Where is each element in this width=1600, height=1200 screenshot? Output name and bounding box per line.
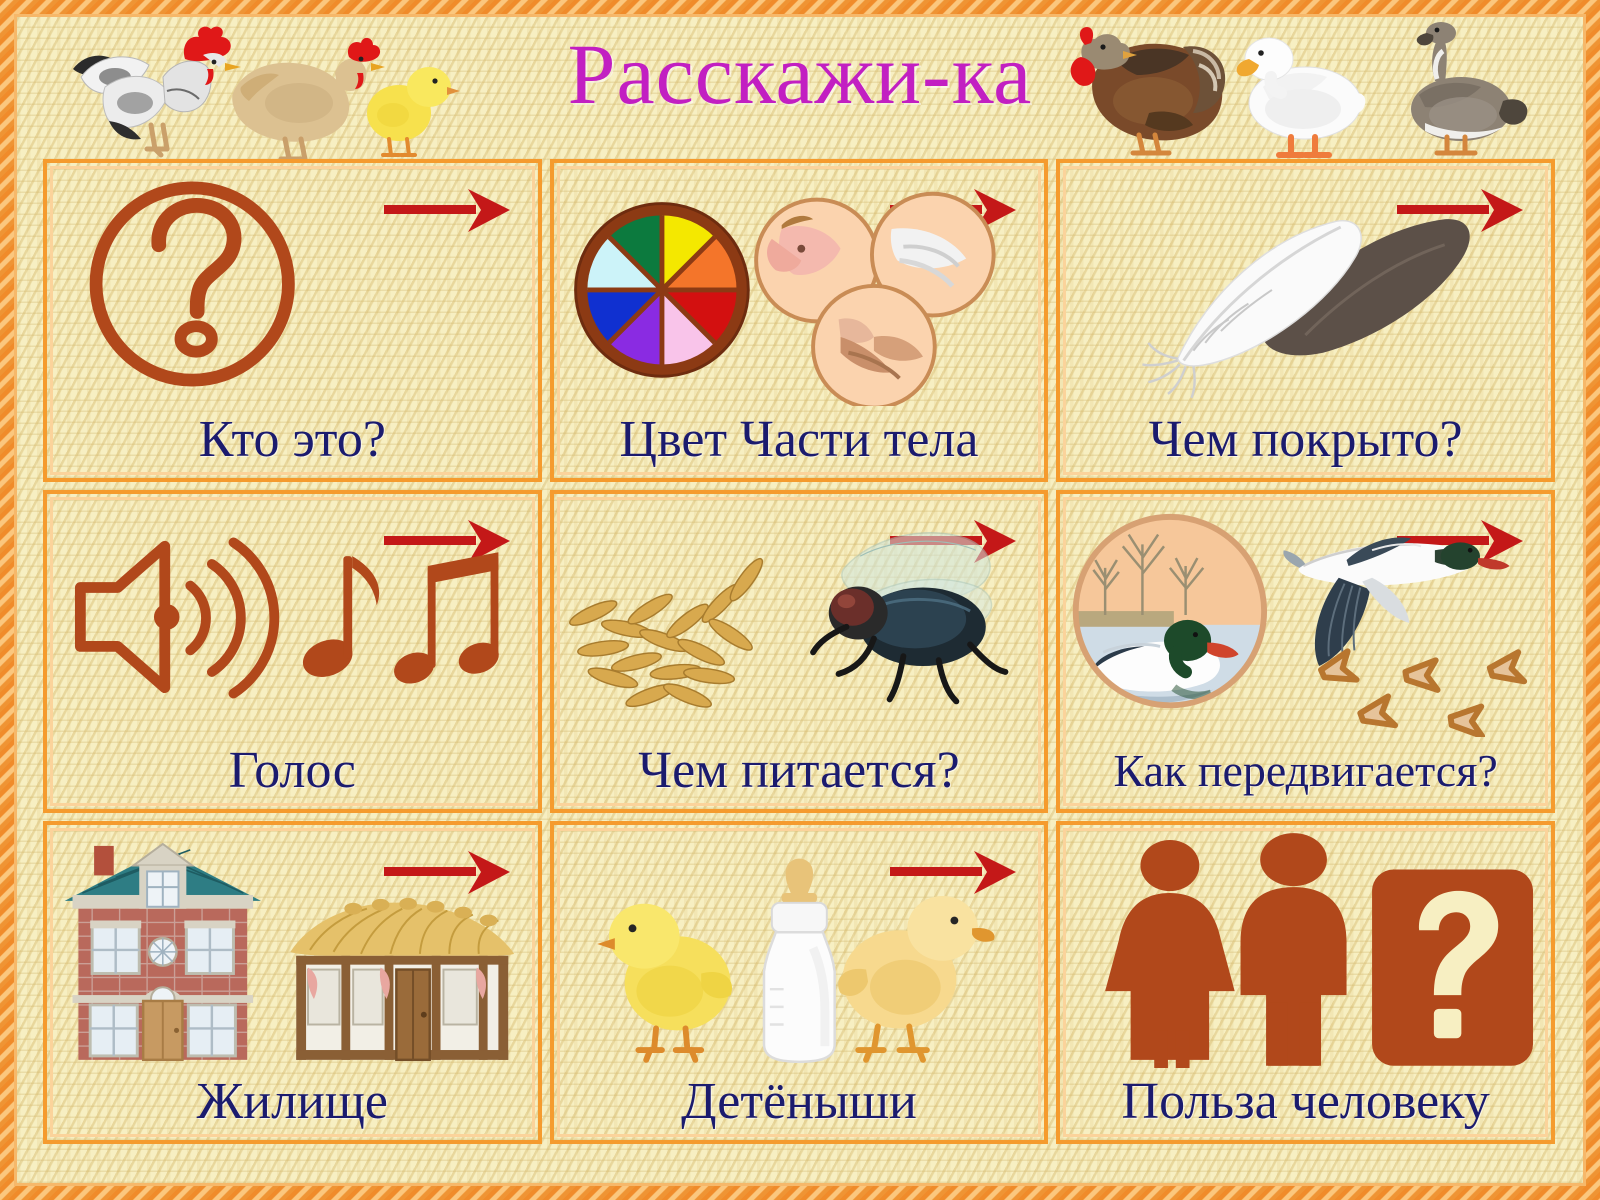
dwelling-art — [47, 825, 538, 1068]
how-it-moves-art — [1060, 494, 1551, 737]
woman-icon — [1105, 840, 1235, 1068]
man-icon — [1241, 833, 1347, 1066]
speaker-icon — [80, 546, 164, 687]
fly-icon — [813, 533, 1005, 702]
cell-who-is-it[interactable]: Кто это? — [43, 159, 542, 482]
cell-label: Голос — [47, 737, 538, 805]
baby-bottle-icon — [764, 859, 835, 1062]
white-duck-icon — [1237, 38, 1366, 155]
cell-how-it-moves[interactable]: Как передвигается? — [1056, 490, 1555, 813]
footprints-icon — [1319, 651, 1525, 737]
cell-label: Как передвигается? — [1060, 737, 1551, 805]
music-note-eighth-icon — [298, 556, 380, 683]
cell-label: Жилище — [47, 1068, 538, 1136]
cell-what-it-eats[interactable]: Чем питается? — [550, 490, 1049, 813]
what-it-eats-art — [554, 494, 1045, 737]
poster: Расскажи-ка — [0, 0, 1600, 1200]
poster-inner: Расскажи-ка — [14, 14, 1586, 1186]
turkey-icon — [1071, 27, 1225, 153]
grain-icon — [567, 555, 767, 711]
swimming-duck-vignette-icon — [1076, 517, 1264, 715]
thatched-hut-icon — [290, 898, 514, 1060]
covered-with-art — [1060, 163, 1551, 406]
cell-benefit-to-human[interactable]: Польза человеку — [1056, 821, 1555, 1144]
music-note-beamed-icon — [390, 552, 504, 689]
cell-label: Польза человеку — [1060, 1068, 1551, 1136]
chick-icon — [597, 904, 732, 1060]
voice-art — [47, 494, 538, 737]
feathers-icon — [1143, 219, 1470, 398]
color-wheel-icon — [575, 204, 748, 377]
young-art — [554, 825, 1045, 1068]
brick-house-icon — [65, 844, 261, 1060]
cell-label: Цвет Части тела — [554, 406, 1045, 474]
sound-waves-icon — [190, 542, 274, 693]
flying-duck-icon — [1284, 537, 1510, 666]
poster-header: Расскажи-ка — [17, 17, 1583, 159]
benefit-to-human-art — [1060, 825, 1551, 1068]
cell-covered-with[interactable]: Чем покрыто? — [1056, 159, 1555, 482]
question-grid: Кто это? — [43, 159, 1555, 1144]
cell-voice[interactable]: Голос — [43, 490, 542, 813]
cell-young[interactable]: Детёныши — [550, 821, 1049, 1144]
who-is-it-art — [47, 163, 538, 406]
cell-label: Чем покрыто? — [1060, 406, 1551, 474]
cell-color-body-parts[interactable]: Цвет Части тела — [550, 159, 1049, 482]
cell-label: Детёныши — [554, 1068, 1045, 1136]
speaker-center-dot — [154, 604, 180, 630]
cell-label: Кто это? — [47, 406, 538, 474]
cell-label: Чем питается? — [554, 737, 1045, 805]
color-body-parts-art — [554, 163, 1045, 406]
grey-goose-icon — [1411, 22, 1527, 153]
header-right-birds — [1033, 17, 1553, 159]
question-mark-circle-icon — [96, 188, 288, 380]
duckling-icon — [838, 896, 994, 1060]
cell-dwelling[interactable]: Жилище — [43, 821, 542, 1144]
question-block-icon — [1372, 869, 1533, 1065]
body-parts-icon — [756, 194, 993, 406]
